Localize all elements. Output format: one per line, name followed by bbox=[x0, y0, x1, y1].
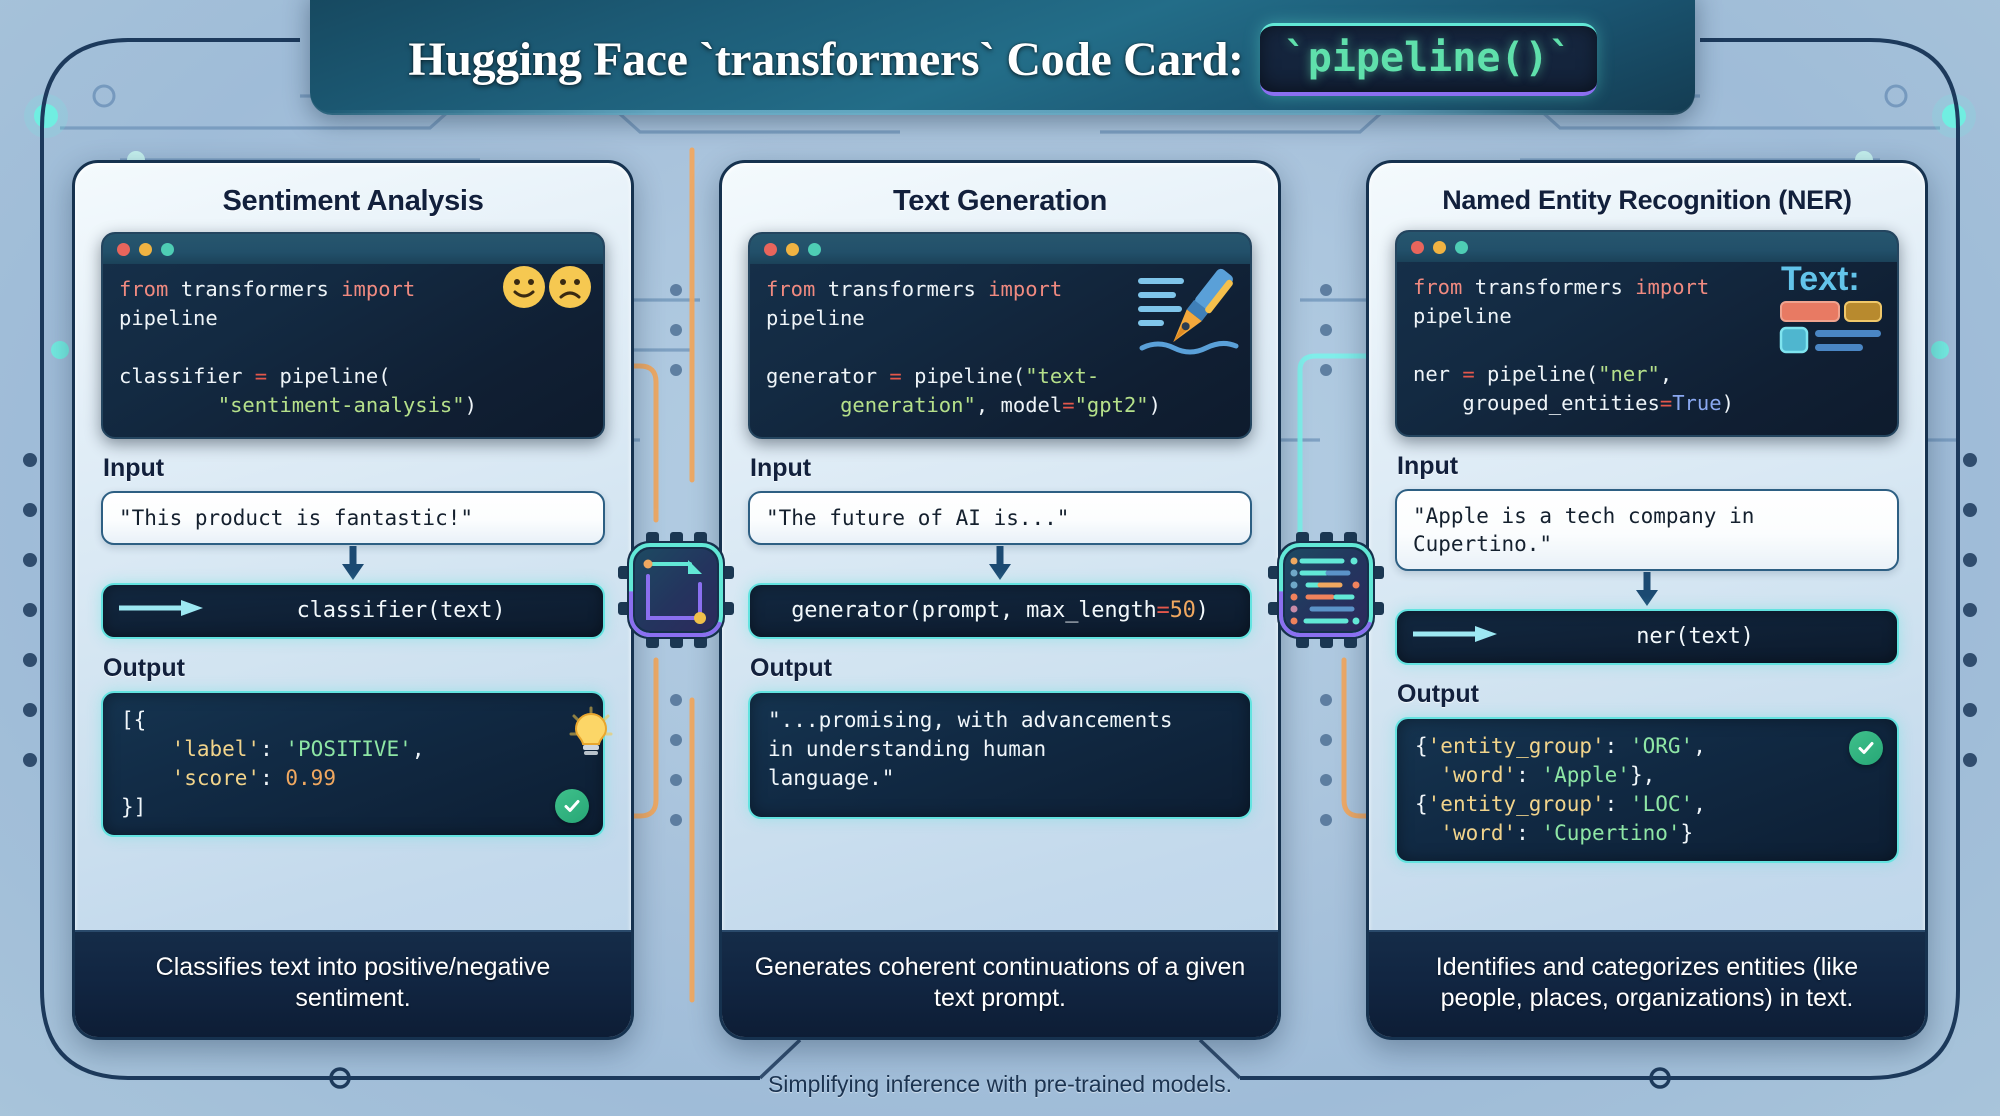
output-label: Output bbox=[750, 654, 1252, 683]
output-label: Output bbox=[103, 654, 605, 683]
call-bar[interactable]: ner(text) bbox=[1395, 609, 1899, 665]
code-window: from transformers import pipeline ner = … bbox=[1395, 230, 1899, 437]
document-chip-icon bbox=[618, 532, 734, 648]
minimize-dot-icon[interactable] bbox=[139, 243, 152, 256]
close-dot-icon[interactable] bbox=[764, 243, 777, 256]
card-body: from transformers import pipeline genera… bbox=[722, 232, 1278, 930]
call-text: ner(text) bbox=[1509, 624, 1881, 649]
close-dot-icon[interactable] bbox=[117, 243, 130, 256]
code-window-titlebar bbox=[1397, 232, 1897, 262]
code-lines-chip-icon bbox=[1268, 532, 1384, 648]
code-snippet: from transformers import pipeline genera… bbox=[750, 264, 1250, 437]
call-text: classifier(text) bbox=[215, 598, 587, 623]
card-named-entity-recognition[interactable]: Named Entity Recognition (NER) from tran… bbox=[1366, 160, 1928, 1040]
pipeline-code-chip: `pipeline()` bbox=[1260, 23, 1597, 96]
input-label: Input bbox=[1397, 452, 1899, 481]
card-body: from transformers import pipeline classi… bbox=[75, 232, 631, 930]
card-title: Sentiment Analysis bbox=[75, 163, 631, 232]
page-title: Hugging Face `transformers` Code Card: `… bbox=[408, 23, 1596, 96]
call-bar[interactable]: generator(prompt, max_length=50) bbox=[748, 583, 1252, 639]
minimize-dot-icon[interactable] bbox=[1433, 241, 1446, 254]
input-value[interactable]: "This product is fantastic!" bbox=[101, 491, 605, 545]
input-value[interactable]: "The future of AI is..." bbox=[748, 491, 1252, 545]
poster-canvas: Hugging Face `transformers` Code Card: `… bbox=[0, 0, 2000, 1116]
output-value: "...promising, with advancements in unde… bbox=[748, 691, 1252, 819]
card-title: Text Generation bbox=[722, 163, 1278, 232]
input-label: Input bbox=[103, 454, 605, 483]
maximize-dot-icon[interactable] bbox=[808, 243, 821, 256]
card-title: Named Entity Recognition (NER) bbox=[1369, 163, 1925, 230]
card-sentiment-analysis[interactable]: Sentiment Analysis from transformers imp… bbox=[72, 160, 634, 1040]
cards-row: Sentiment Analysis from transformers imp… bbox=[0, 160, 2000, 1040]
input-label: Input bbox=[750, 454, 1252, 483]
close-dot-icon[interactable] bbox=[1411, 241, 1424, 254]
minimize-dot-icon[interactable] bbox=[786, 243, 799, 256]
call-text: generator(prompt, max_length=50) bbox=[766, 598, 1234, 623]
maximize-dot-icon[interactable] bbox=[1455, 241, 1468, 254]
maximize-dot-icon[interactable] bbox=[161, 243, 174, 256]
page-title-prefix: Hugging Face `transformers` Code Card: bbox=[408, 32, 1243, 87]
flow-arrow-icon bbox=[748, 545, 1252, 583]
poster-title-bar: Hugging Face `transformers` Code Card: `… bbox=[310, 0, 1695, 115]
output-value: {'entity_group': 'ORG', 'word': 'Apple'}… bbox=[1395, 717, 1899, 863]
card-description: Identifies and categorizes entities (lik… bbox=[1369, 930, 1925, 1038]
call-bar[interactable]: classifier(text) bbox=[101, 583, 605, 639]
success-check-icon bbox=[1849, 731, 1883, 765]
code-window: from transformers import pipeline genera… bbox=[748, 232, 1252, 439]
code-snippet: from transformers import pipeline classi… bbox=[103, 264, 603, 437]
card-text-generation[interactable]: Text Generation from transformers import… bbox=[719, 160, 1281, 1040]
right-arrow-icon bbox=[119, 599, 205, 622]
pipeline-code-text: `pipeline()` bbox=[1284, 35, 1573, 81]
flow-arrow-icon bbox=[101, 545, 605, 583]
card-body: from transformers import pipeline ner = … bbox=[1369, 230, 1925, 930]
input-value[interactable]: "Apple is a tech company in Cupertino." bbox=[1395, 489, 1899, 571]
right-arrow-icon bbox=[1413, 625, 1499, 648]
output-value: [{ 'label': 'POSITIVE', 'score': 0.99 }] bbox=[101, 691, 605, 837]
code-snippet: from transformers import pipeline ner = … bbox=[1397, 262, 1897, 435]
output-label: Output bbox=[1397, 680, 1899, 709]
code-window: from transformers import pipeline classi… bbox=[101, 232, 605, 439]
success-check-icon bbox=[555, 789, 589, 823]
card-description: Generates coherent continuations of a gi… bbox=[722, 930, 1278, 1038]
footer-caption: Simplifying inference with pre-trained m… bbox=[0, 1071, 2000, 1098]
code-window-titlebar bbox=[103, 234, 603, 264]
lightbulb-icon bbox=[569, 706, 613, 765]
code-window-titlebar bbox=[750, 234, 1250, 264]
flow-arrow-icon bbox=[1395, 571, 1899, 609]
card-description: Classifies text into positive/negative s… bbox=[75, 930, 631, 1038]
